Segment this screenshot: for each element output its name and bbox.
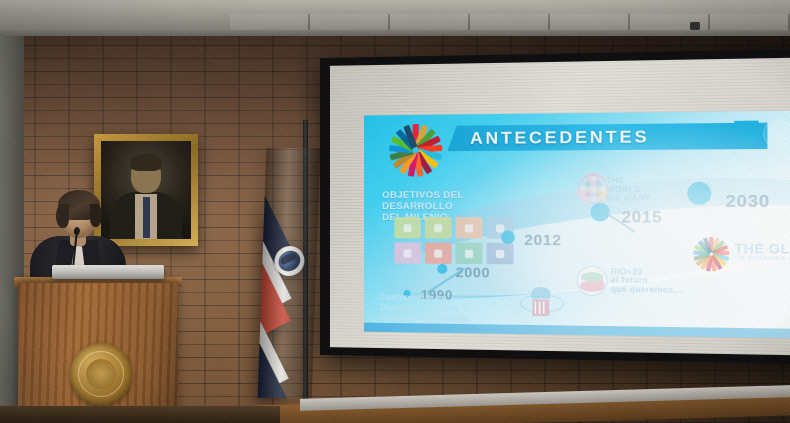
the-world-we-want-label: THE WORLD WE WANT: [607, 177, 651, 204]
speaker-hair-left: [56, 204, 69, 228]
rio20-label: RIO+20 el futuro que queremos...: [611, 268, 682, 295]
timeline-dot-2030: [687, 182, 711, 205]
mdg-goal-icon: [456, 217, 483, 238]
un-emblem-icon: [763, 119, 790, 148]
timeline-dot-2012: [501, 230, 515, 243]
ww-line3: WE WANT: [607, 195, 651, 204]
portrait-necktie: [143, 197, 150, 238]
screen-surface: ANTECEDENTES NACIONES UNIDAS OBJETIVOS D…: [330, 57, 790, 355]
mdg-icon-grid: [394, 217, 517, 264]
projected-slide: ANTECEDENTES NACIONES UNIDAS OBJETIVOS D…: [364, 110, 790, 338]
global-goals-subtitle: For Sustainable Develo: [734, 255, 790, 262]
global-goals-wheel-icon: [693, 236, 729, 271]
mdg-goal-icon: [456, 243, 483, 265]
flag-fold-shading: [258, 148, 321, 398]
mdg-goal-icon: [425, 242, 452, 263]
building-dome: [531, 287, 550, 298]
portrait-hair: [130, 154, 162, 171]
podium: [18, 283, 178, 423]
rio20-logo-icon: [577, 266, 608, 296]
timeline-year-2000: 2000: [456, 264, 491, 281]
costa-rica-flag: [258, 148, 321, 398]
foreground-shadow: [0, 406, 280, 423]
un-accent-square: [734, 121, 758, 144]
ceiling-fixture-icon: [690, 22, 700, 30]
sdg-wheel-logo-icon: [389, 124, 442, 177]
rio-line3: que queremos...: [611, 286, 682, 295]
slide-title-banner: ANTECEDENTES: [447, 123, 767, 152]
mdg-goal-icon: [425, 217, 452, 238]
mdg-goal-icon: [487, 243, 514, 265]
portrait-canvas: [101, 141, 191, 239]
timeline-dot-2000: [437, 264, 447, 274]
framed-portrait: [94, 134, 198, 246]
mdg-goal-icon: [394, 217, 420, 238]
podium-seal-icon: [70, 343, 132, 405]
slide-title: ANTECEDENTES: [447, 126, 649, 148]
timeline-year-2012: 2012: [524, 232, 562, 250]
the-world-we-want-logo-icon: [577, 173, 610, 205]
slide-footnote: Conferencias enDerechos Humanos yDesarro…: [380, 293, 513, 325]
laptop: [52, 265, 164, 279]
timeline-year-2030: 2030: [726, 191, 770, 212]
presentation-photo-scene: ANTECEDENTES NACIONES UNIDAS OBJETIVOS D…: [0, 0, 790, 423]
projection-screen: ANTECEDENTES NACIONES UNIDAS OBJETIVOS D…: [320, 49, 790, 364]
conference-building-icon: [520, 286, 562, 319]
building-columns: [532, 299, 549, 316]
speaker-hair-right: [90, 204, 102, 227]
mdg-goal-icon: [394, 242, 420, 263]
